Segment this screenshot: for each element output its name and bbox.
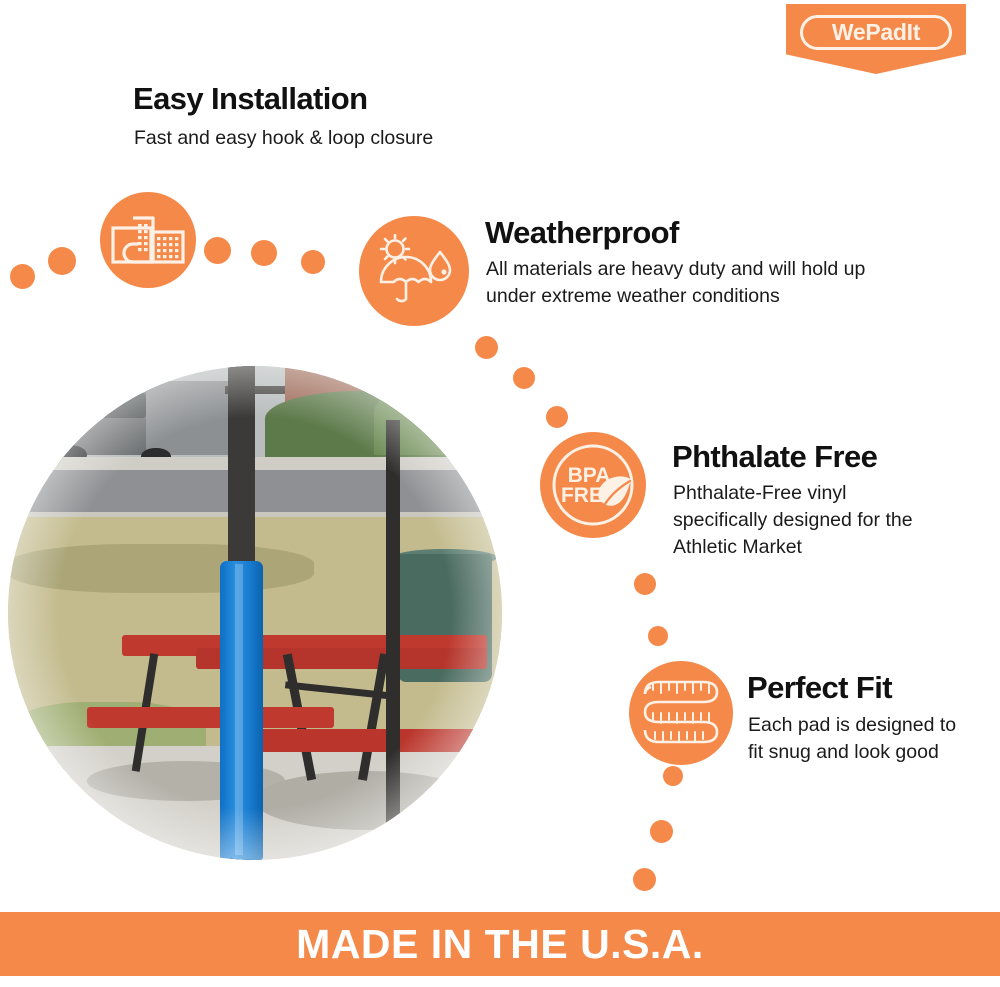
path-dot (663, 766, 683, 786)
path-dot (204, 237, 231, 264)
measuring-tape-icon (629, 661, 733, 765)
brand-logo: WePadIt (786, 4, 966, 74)
path-dot (650, 820, 673, 843)
path-dot (475, 336, 498, 359)
sun-umbrella-raindrop-icon (359, 216, 469, 326)
path-dot (10, 264, 35, 289)
product-photo (8, 366, 502, 860)
feature-desc-perfect-fit: Each pad is designed to fit snug and loo… (748, 712, 970, 766)
feature-title-phthalate-free: Phthalate Free (672, 438, 877, 476)
path-dot (48, 247, 76, 275)
product-feature-infographic: WePadIt Easy Installation Fast and easy … (0, 0, 1000, 987)
path-dot (633, 868, 656, 891)
path-dot (634, 573, 656, 595)
path-dot (251, 240, 277, 266)
logo-text-we: We (832, 19, 866, 45)
feature-desc-easy-installation: Fast and easy hook & loop closure (134, 125, 554, 152)
path-dot (546, 406, 568, 428)
logo-text-it: It (907, 19, 920, 45)
path-dot (301, 250, 325, 274)
feature-desc-weatherproof: All materials are heavy duty and will ho… (486, 256, 911, 310)
building-installation-icon (100, 192, 196, 288)
logo-wordmark: WePadIt (786, 17, 966, 47)
photo-edge-fade (8, 366, 502, 860)
feature-title-easy-installation: Easy Installation (133, 80, 367, 118)
made-in-usa-text: MADE IN THE U.S.A. (296, 921, 704, 967)
feature-desc-phthalate-free: Phthalate-Free vinyl specifically design… (673, 480, 935, 561)
bpa-free-leaf-icon: BPA FREE (540, 432, 646, 538)
logo-text-pad: Pad (865, 19, 906, 45)
feature-title-weatherproof: Weatherproof (485, 214, 679, 252)
path-dot (513, 367, 535, 389)
path-dot (648, 626, 668, 646)
made-in-usa-banner: MADE IN THE U.S.A. (0, 912, 1000, 976)
feature-title-perfect-fit: Perfect Fit (747, 669, 892, 707)
